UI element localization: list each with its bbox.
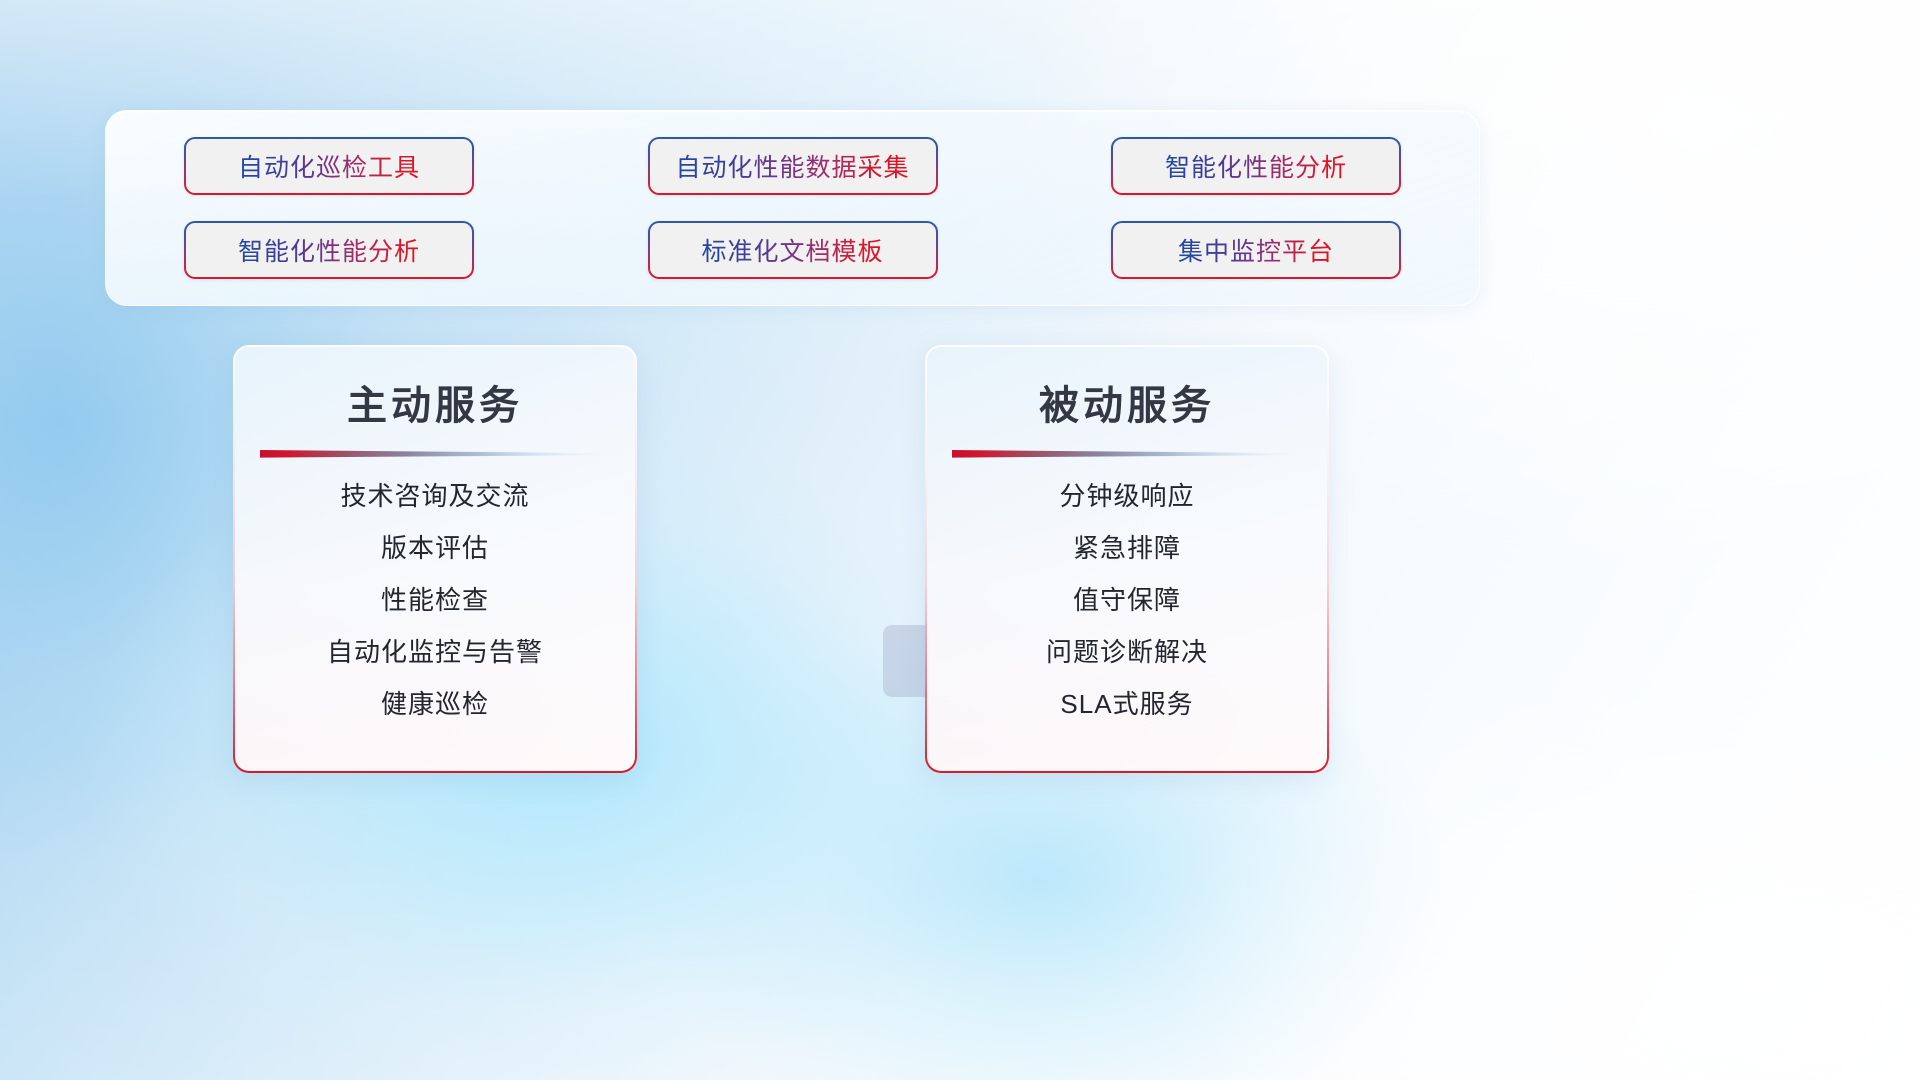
capability-pill-label: 标准化文档模板 [701, 232, 883, 268]
list-item: 性能检查 [381, 584, 489, 616]
capability-pill-automated-performance-data-collection[interactable]: 自动化性能数据采集 [648, 137, 938, 195]
reactive-service-card[interactable]: 被动服务 [925, 345, 1329, 773]
capability-pill-surface: 标准化文档模板 [650, 223, 936, 277]
list-item: 技术咨询及交流 [340, 480, 529, 512]
capability-pill-centralized-monitoring-platform[interactable]: 集中监控平台 [1111, 221, 1401, 279]
list-item: 分钟级响应 [1059, 480, 1194, 512]
reactive-card-title: 被动服务 [1039, 373, 1215, 431]
capability-pill-standardized-document-template[interactable]: 标准化文档模板 [648, 221, 938, 279]
proactive-card-list: 技术咨询及交流 版本评估 性能检查 自动化监控与告警 健康巡检 [235, 480, 635, 720]
capability-pill-intelligent-performance-analysis-top[interactable]: 智能化性能分析 [1111, 137, 1401, 195]
list-item: 值守保障 [1073, 584, 1181, 616]
capability-pill-label: 智能化性能分析 [238, 232, 420, 268]
reactive-card-list: 分钟级响应 紧急排障 值守保障 问题诊断解决 SLA式服务 [927, 480, 1327, 720]
proactive-card-divider [260, 449, 610, 458]
capability-pill-surface: 自动化巡检工具 [186, 139, 472, 193]
list-item: 健康巡检 [381, 688, 489, 720]
capability-pill-surface: 自动化性能数据采集 [650, 139, 936, 193]
capability-pill-label: 自动化巡检工具 [238, 148, 420, 184]
capability-pill-automated-inspection-tool[interactable]: 自动化巡检工具 [184, 137, 474, 195]
capability-pill-label: 集中监控平台 [1178, 232, 1334, 268]
reactive-card-divider [952, 449, 1302, 458]
capability-banner: 自动化巡检工具 自动化性能数据采集 智能化性能分析 智能化性能分析 [105, 110, 1480, 306]
list-item: SLA式服务 [1060, 688, 1193, 720]
proactive-card-surface: 主动服务 [235, 347, 635, 771]
list-item: 紧急排障 [1073, 532, 1181, 564]
list-item: 自动化监控与告警 [327, 636, 543, 668]
proactive-card-title: 主动服务 [347, 373, 523, 431]
capability-pill-surface: 智能化性能分析 [1113, 139, 1399, 193]
capability-pill-grid: 自动化巡检工具 自动化性能数据采集 智能化性能分析 智能化性能分析 [106, 111, 1479, 305]
capability-pill-label: 自动化性能数据采集 [675, 148, 909, 184]
capability-pill-label: 智能化性能分析 [1165, 148, 1347, 184]
slide-canvas: 自动化巡检工具 自动化性能数据采集 智能化性能分析 智能化性能分析 [0, 0, 1920, 1080]
capability-pill-surface: 集中监控平台 [1113, 223, 1399, 277]
capability-pill-surface: 智能化性能分析 [186, 223, 472, 277]
proactive-service-card[interactable]: 主动服务 [233, 345, 637, 773]
list-item: 版本评估 [381, 532, 489, 564]
reactive-card-surface: 被动服务 [927, 347, 1327, 771]
capability-pill-intelligent-performance-analysis-bottom[interactable]: 智能化性能分析 [184, 221, 474, 279]
list-item: 问题诊断解决 [1046, 636, 1208, 668]
